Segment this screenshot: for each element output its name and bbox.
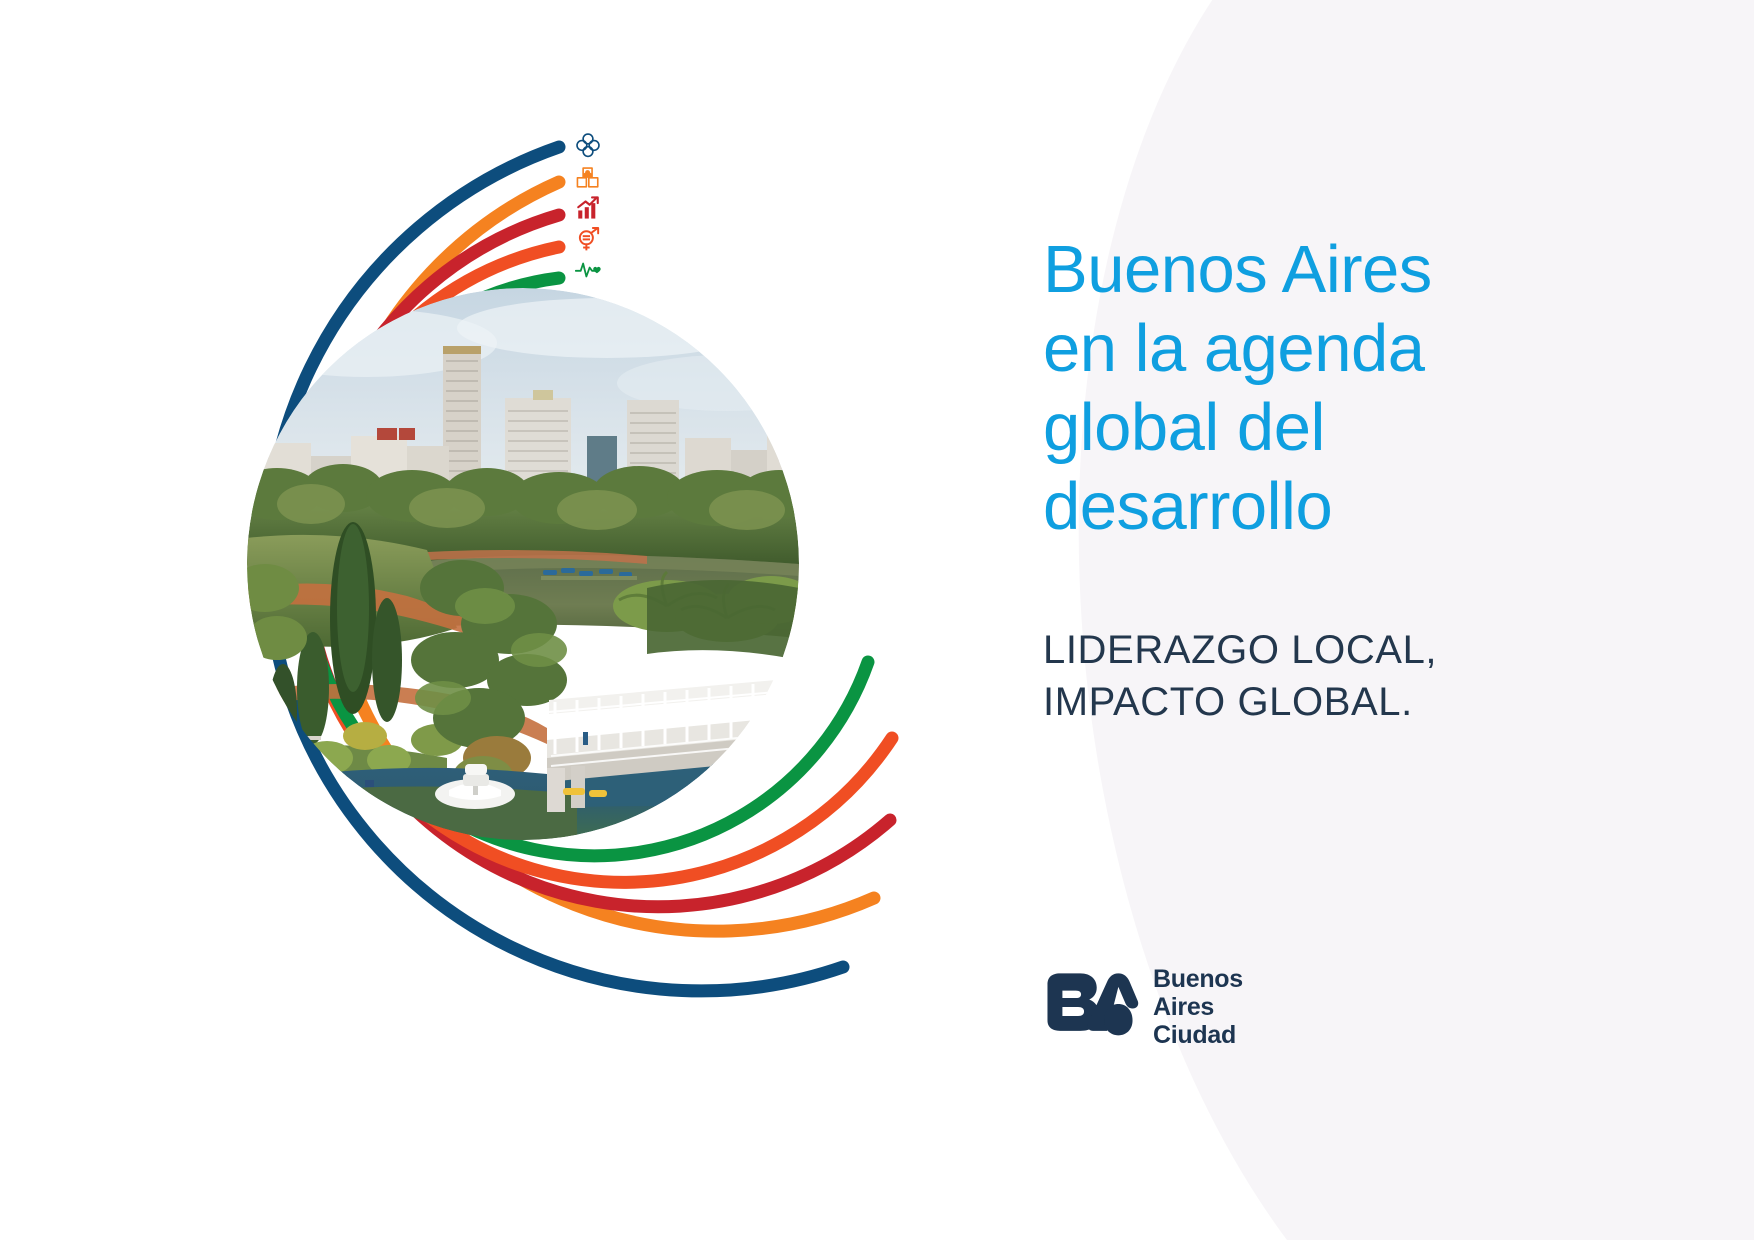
slide-canvas: Buenos Aires en la agenda global del des… [0, 0, 1754, 1240]
health-icon [575, 257, 601, 283]
page-title: Buenos Aires en la agenda global del des… [1043, 230, 1663, 546]
page-subtitle: LIDERAZGO LOCAL, IMPACTO GLOBAL. [1043, 624, 1663, 728]
gender-icon [575, 226, 601, 252]
text-block: Buenos Aires en la agenda global del des… [1043, 230, 1663, 728]
ba-monogram-icon [1043, 971, 1140, 1043]
growth-icon [575, 195, 601, 221]
industry-icon [575, 164, 601, 190]
city-photo [247, 288, 799, 840]
partnership-icon [575, 132, 601, 158]
sdg-icon-column [575, 132, 615, 277]
logo-wordmark: Buenos Aires Ciudad [1153, 965, 1243, 1049]
ba-ciudad-logo: Buenos Aires Ciudad [1043, 965, 1243, 1049]
